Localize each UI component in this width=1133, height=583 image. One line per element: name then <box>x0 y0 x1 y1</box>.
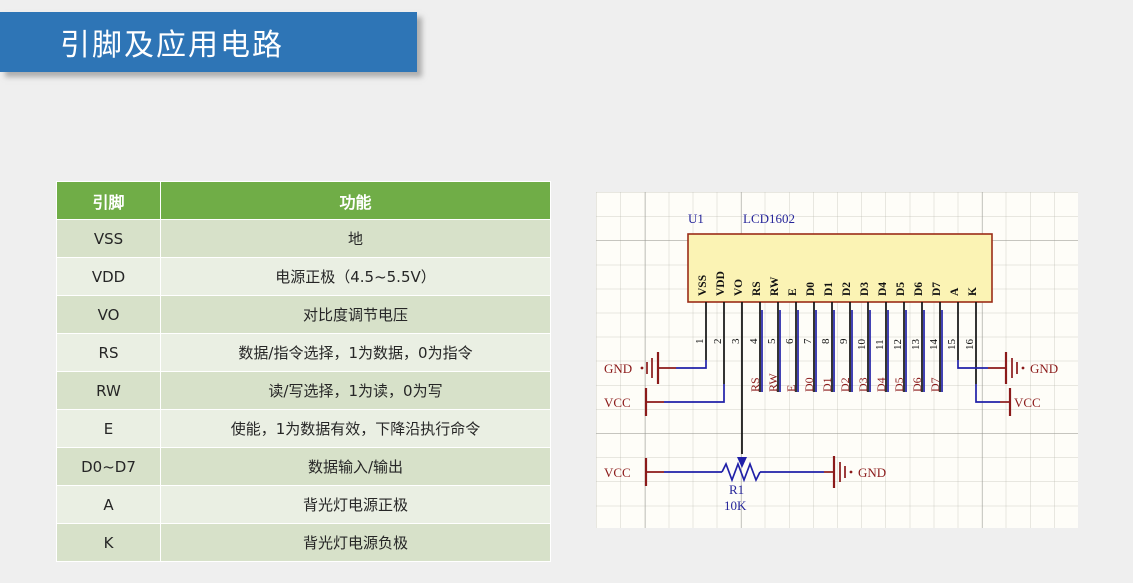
table-row: A 背光灯电源正极 <box>57 486 551 524</box>
cell-func: 对比度调节电压 <box>161 296 551 334</box>
cell-pin: VDD <box>57 258 161 296</box>
column-header-pin: 引脚 <box>57 182 161 220</box>
cell-pin: K <box>57 524 161 562</box>
resistor-symbol <box>722 464 760 480</box>
pin-number: 13 <box>910 339 922 351</box>
net-label: D0 <box>802 377 816 392</box>
table-row: RW 读/写选择，1为读，0为写 <box>57 372 551 410</box>
pin-number: 12 <box>892 339 904 350</box>
table-row: D0~D7 数据输入/输出 <box>57 448 551 486</box>
pin-number: 10 <box>856 339 868 351</box>
cell-pin: RS <box>57 334 161 372</box>
pin-name: VO <box>733 279 745 296</box>
cell-func: 背光灯电源负极 <box>161 524 551 562</box>
cell-func: 读/写选择，1为读，0为写 <box>161 372 551 410</box>
vcc-symbol-left: VCC <box>604 388 664 416</box>
pin-number: 11 <box>874 339 886 350</box>
cell-func: 数据输入/输出 <box>161 448 551 486</box>
pin-name: D2 <box>841 282 853 296</box>
pin-number: 6 <box>784 338 796 344</box>
cell-func: 电源正极（4.5~5.5V） <box>161 258 551 296</box>
potentiometer-branch: VCC GND R1 10K <box>604 456 886 513</box>
pin-name: VDD <box>715 271 727 296</box>
vcc-symbol-right: VCC <box>1000 388 1041 416</box>
pin-function-table: 引脚 功能 VSS 地 VDD 电源正极（4.5~5.5V） VO 对比度调节电… <box>56 181 551 562</box>
page-title: 引脚及应用电路 <box>60 20 284 64</box>
pin-name: VSS <box>697 275 709 296</box>
pin-number: 4 <box>748 338 760 344</box>
table-row: VSS 地 <box>57 220 551 258</box>
cell-func: 使能，1为数据有效，下降沿执行命令 <box>161 410 551 448</box>
chip-pin-numbers: 1 2 3 4 5 6 7 8 9 10 11 12 13 14 15 16 <box>694 338 976 350</box>
cell-pin: VSS <box>57 220 161 258</box>
wires-left <box>664 360 724 402</box>
cell-pin: E <box>57 410 161 448</box>
cell-pin: VO <box>57 296 161 334</box>
pin-name: D6 <box>913 282 925 296</box>
resistor-designator: R1 <box>729 482 744 497</box>
net-label: D1 <box>820 377 834 392</box>
net-label: D2 <box>838 377 852 392</box>
pin-name: K <box>967 287 979 296</box>
table-row: VDD 电源正极（4.5~5.5V） <box>57 258 551 296</box>
pin-name: D7 <box>931 282 943 296</box>
pin-number: 8 <box>820 338 832 344</box>
resistor-value: 10K <box>724 498 747 513</box>
net-label: RS <box>748 377 762 392</box>
pin-name: D3 <box>859 282 871 296</box>
table-row: E 使能，1为数据有效，下降沿执行命令 <box>57 410 551 448</box>
vcc-label-left: VCC <box>604 395 631 410</box>
net-label: E <box>784 385 798 392</box>
wires-right <box>958 360 1000 402</box>
net-labels: RS RW E D0 D1 D2 D3 D4 D5 D6 D7 <box>748 373 942 392</box>
net-label: D3 <box>856 377 870 392</box>
gnd-symbol-left: GND <box>604 352 676 384</box>
cell-pin: A <box>57 486 161 524</box>
gnd-label-right: GND <box>1030 361 1058 376</box>
net-label: D6 <box>910 377 924 392</box>
pin-number: 7 <box>802 338 814 344</box>
pin-number: 2 <box>712 339 724 345</box>
pin-number: 16 <box>964 339 976 351</box>
vcc-label-pot: VCC <box>604 465 631 480</box>
net-label: RW <box>766 373 780 392</box>
pin-name: RW <box>769 276 781 296</box>
gnd-label-left: GND <box>604 361 632 376</box>
cell-func: 背光灯电源正极 <box>161 486 551 524</box>
table-row: K 背光灯电源负极 <box>57 524 551 562</box>
pin-name: RS <box>751 281 763 296</box>
pin-number: 15 <box>946 339 958 351</box>
net-label: D7 <box>928 377 942 392</box>
net-label: D4 <box>874 377 888 392</box>
cell-func: 地 <box>161 220 551 258</box>
pin-name: D4 <box>877 282 889 296</box>
pin-number: 14 <box>928 339 940 351</box>
pin-number: 3 <box>730 338 742 344</box>
pin-name: D1 <box>823 282 835 296</box>
cell-pin: D0~D7 <box>57 448 161 486</box>
pin-name: E <box>787 288 799 296</box>
table-header-row: 引脚 功能 <box>57 182 551 220</box>
cell-func: 数据/指令选择，1为数据，0为指令 <box>161 334 551 372</box>
pin-name: D5 <box>895 282 907 296</box>
table-row: VO 对比度调节电压 <box>57 296 551 334</box>
pin-name: A <box>949 287 961 296</box>
net-label: D5 <box>892 377 906 392</box>
chip-designator: U1 <box>688 211 704 226</box>
pin-number: 5 <box>766 338 778 344</box>
schematic-drawing: U1 LCD1602 VSS VDD VO RS RW E D0 D1 D2 D… <box>596 192 1078 528</box>
vcc-label-right: VCC <box>1014 395 1041 410</box>
gnd-label-pot: GND <box>858 465 886 480</box>
title-banner: 引脚及应用电路 <box>0 12 417 72</box>
table-row: RS 数据/指令选择，1为数据，0为指令 <box>57 334 551 372</box>
cell-pin: RW <box>57 372 161 410</box>
schematic-panel: U1 LCD1602 VSS VDD VO RS RW E D0 D1 D2 D… <box>596 192 1078 528</box>
column-header-func: 功能 <box>161 182 551 220</box>
pin-number: 1 <box>694 339 706 345</box>
gnd-symbol-right: GND <box>988 352 1058 384</box>
pin-number: 9 <box>838 338 850 344</box>
chip-part-name: LCD1602 <box>743 211 795 226</box>
pin-name: D0 <box>805 282 817 296</box>
